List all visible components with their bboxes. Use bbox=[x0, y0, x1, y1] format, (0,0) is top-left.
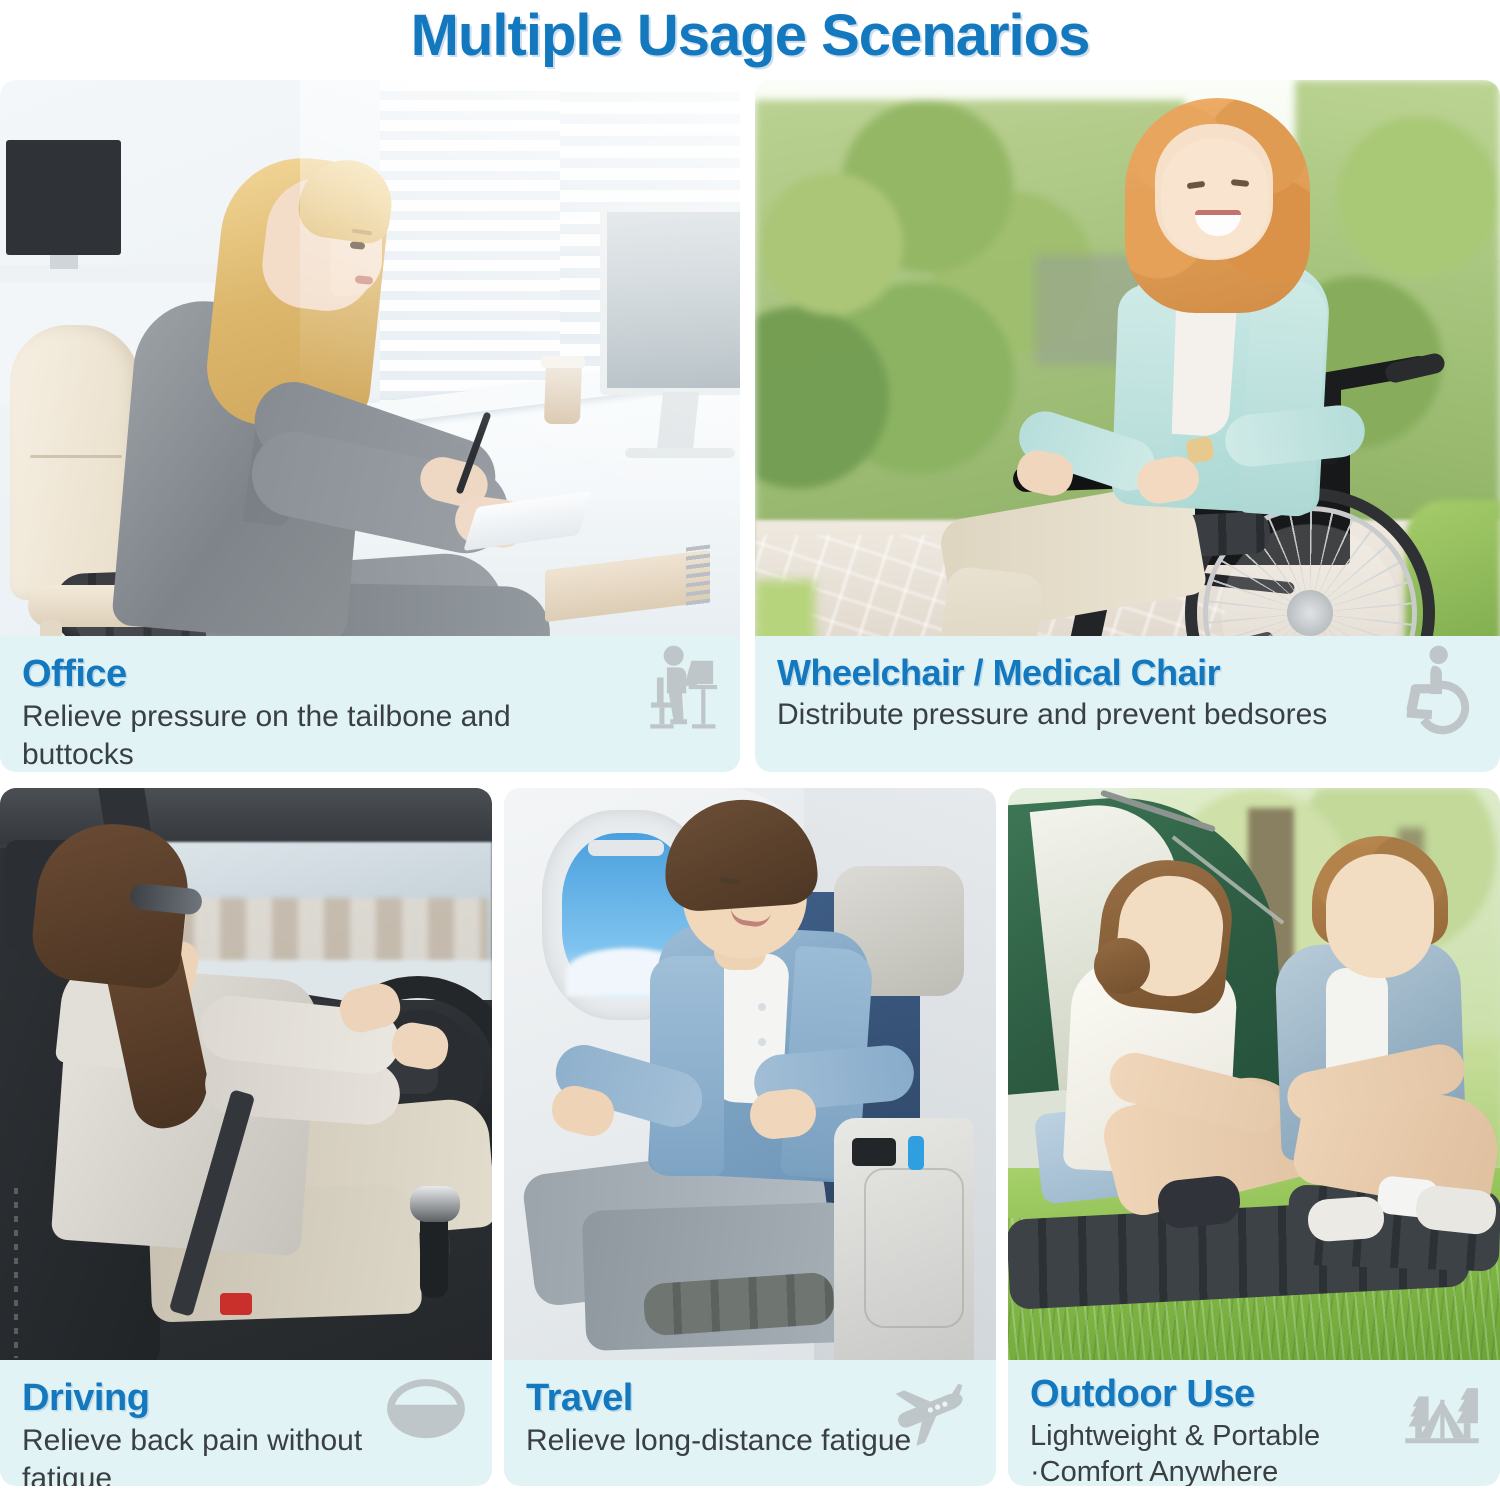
driving-heading: Driving bbox=[22, 1376, 472, 1420]
travel-caption: Travel Relieve long-distance fatigue bbox=[504, 1360, 996, 1486]
scenario-row-top: Office Relieve pressure on the tailbone … bbox=[0, 80, 1500, 772]
office-heading: Office bbox=[22, 652, 720, 696]
panel-gutter bbox=[492, 788, 504, 1486]
panel-gutter bbox=[996, 788, 1008, 1486]
wheelchair-heading: Wheelchair / Medical Chair bbox=[777, 652, 1480, 694]
driving-subtitle: Relieve back pain without fatigue bbox=[22, 1422, 409, 1486]
outdoor-caption: Outdoor Use Lightweight & Portable ·Comf… bbox=[1008, 1360, 1500, 1486]
office-subtitle: Relieve pressure on the tailbone and but… bbox=[22, 698, 622, 772]
panel-gutter bbox=[740, 80, 755, 772]
scenario-row-bottom: Driving Relieve back pain without fatigu… bbox=[0, 788, 1500, 1486]
travel-subtitle: Relieve long-distance fatigue bbox=[526, 1422, 913, 1460]
scenario-card-travel[interactable]: Travel Relieve long-distance fatigue bbox=[504, 788, 996, 1486]
wheelchair-subtitle: Distribute pressure and prevent bedsores bbox=[777, 696, 1382, 734]
wheelchair-photo bbox=[755, 80, 1500, 636]
outdoor-heading: Outdoor Use bbox=[1030, 1372, 1480, 1416]
wheelchair-caption: Wheelchair / Medical Chair Distribute pr… bbox=[755, 636, 1500, 772]
outdoor-photo bbox=[1008, 788, 1500, 1360]
outdoor-subtitle: Lightweight & Portable ·Comfort Anywhere bbox=[1030, 1418, 1408, 1486]
office-photo bbox=[0, 80, 740, 636]
travel-photo bbox=[504, 788, 996, 1360]
scenario-card-office[interactable]: Office Relieve pressure on the tailbone … bbox=[0, 80, 740, 772]
travel-heading: Travel bbox=[526, 1376, 976, 1420]
driving-photo bbox=[0, 788, 492, 1360]
page-title: Multiple Usage Scenarios bbox=[0, 0, 1500, 80]
scenario-card-driving[interactable]: Driving Relieve back pain without fatigu… bbox=[0, 788, 492, 1486]
row-gutter bbox=[0, 772, 1500, 788]
scenario-card-outdoor[interactable]: Outdoor Use Lightweight & Portable ·Comf… bbox=[1008, 788, 1500, 1486]
office-caption: Office Relieve pressure on the tailbone … bbox=[0, 636, 740, 772]
driving-caption: Driving Relieve back pain without fatigu… bbox=[0, 1360, 492, 1486]
scenario-card-wheelchair[interactable]: Wheelchair / Medical Chair Distribute pr… bbox=[755, 80, 1500, 772]
